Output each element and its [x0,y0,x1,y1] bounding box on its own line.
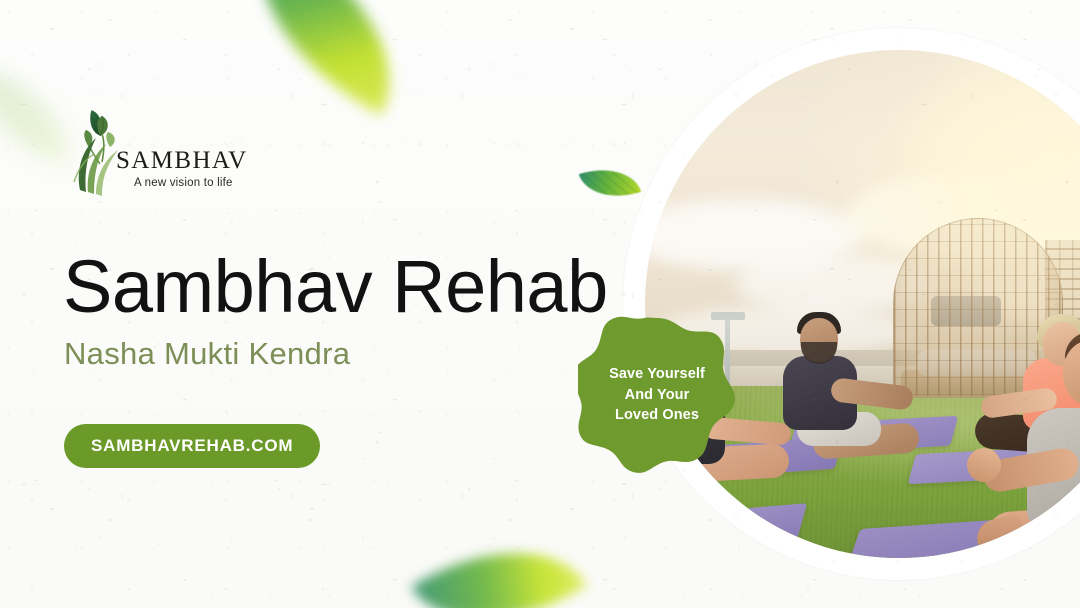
badge-text: Save Yourself And Your Loved Ones [578,316,736,474]
hero-photo [645,50,1080,558]
page-subtitle: Nasha Mukti Kendra [64,336,350,372]
logo-name: SAMBHAV [116,148,248,173]
badge-line-3: Loved Ones [615,405,699,426]
poster-canvas: SAMBHAV A new vision to life Sambhav Reh… [0,0,1080,608]
leaf-icon [411,507,587,608]
leaf-icon [217,0,433,115]
photo-person-meditating [967,448,1001,482]
logo-tagline: A new vision to life [134,177,248,189]
logo-wordmark: SAMBHAV A new vision to life [116,148,248,189]
brand-logo[interactable]: SAMBHAV A new vision to life [72,112,247,200]
website-cta-label: SAMBHAVREHAB.COM [91,436,293,456]
page-title: Sambhav Rehab [63,249,608,324]
badge-line-2: And Your [625,385,690,406]
status-badge[interactable]: Save Yourself And Your Loved Ones [578,316,736,474]
website-cta-button[interactable]: SAMBHAVREHAB.COM [64,424,320,468]
badge-line-1: Save Yourself [609,364,705,385]
leaf-icon [579,158,641,209]
